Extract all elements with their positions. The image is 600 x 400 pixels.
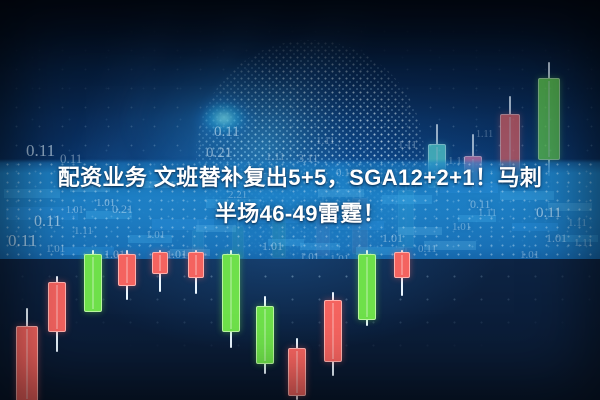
- candle-body: [538, 78, 560, 160]
- data-band-dots: [0, 159, 600, 260]
- numeral-label: 0.11: [26, 142, 55, 159]
- banner-image: 0.110.111.011.010.110.111.011.111.010.21…: [0, 0, 600, 400]
- numeral-label: 1.11: [476, 130, 493, 140]
- plate-specks: [0, 259, 600, 400]
